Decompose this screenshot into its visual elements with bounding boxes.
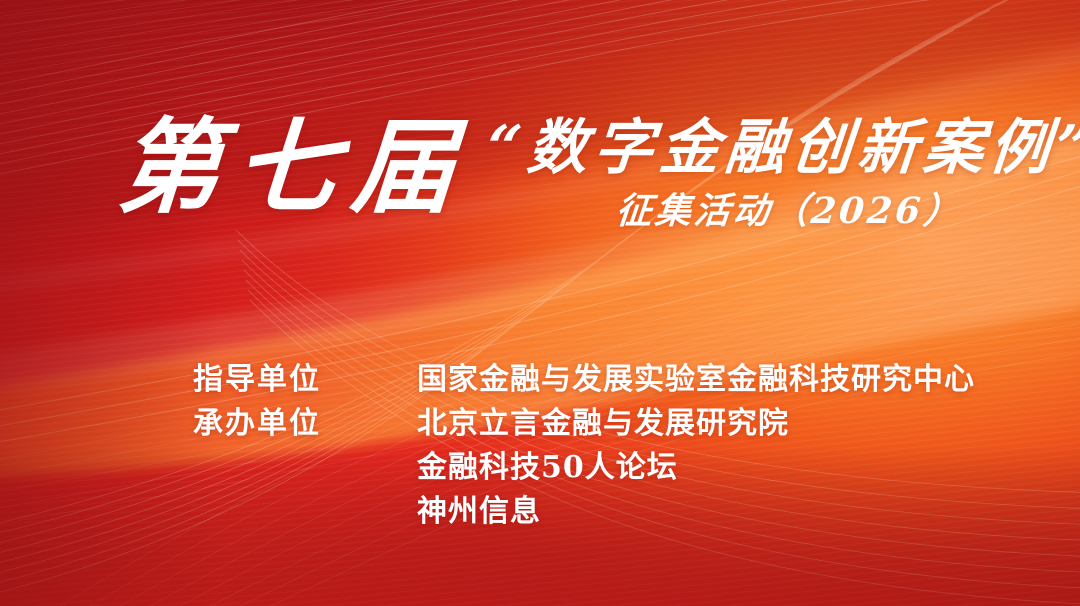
- title-subtitle: 征集活动（2026）: [614, 191, 964, 232]
- info-label-organizer: 承办单位: [193, 402, 417, 446]
- info-value-organizer-1: 北京立言金融与发展研究院: [417, 402, 1033, 446]
- info-label-guidance: 指导单位: [193, 358, 417, 402]
- title-main: 第七届: [114, 112, 473, 223]
- info-values-guidance: 国家金融与发展实验室金融科技研究中心: [417, 358, 1033, 402]
- info-block: 指导单位 国家金融与发展实验室金融科技研究中心 承办单位 北京立言金融与发展研究…: [193, 358, 1033, 534]
- info-value-guidance-1: 国家金融与发展实验室金融科技研究中心: [417, 358, 1033, 402]
- info-row-organizer: 承办单位 北京立言金融与发展研究院 金融科技50人论坛 神州信息: [193, 402, 1033, 534]
- info-row-guidance: 指导单位 国家金融与发展实验室金融科技研究中心: [193, 358, 1033, 402]
- poster-canvas: 第七届 “数字金融创新案例” 征集活动（2026） 指导单位 国家金融与发展实验…: [0, 0, 1080, 606]
- title-quoted: “数字金融创新案例”: [484, 115, 1080, 181]
- poster-content: 第七届 “数字金融创新案例” 征集活动（2026） 指导单位 国家金融与发展实验…: [0, 0, 1080, 606]
- info-value-organizer-3: 神州信息: [417, 490, 1033, 534]
- info-values-organizer: 北京立言金融与发展研究院 金融科技50人论坛 神州信息: [417, 402, 1033, 534]
- info-value-organizer-2: 金融科技50人论坛: [417, 446, 1033, 490]
